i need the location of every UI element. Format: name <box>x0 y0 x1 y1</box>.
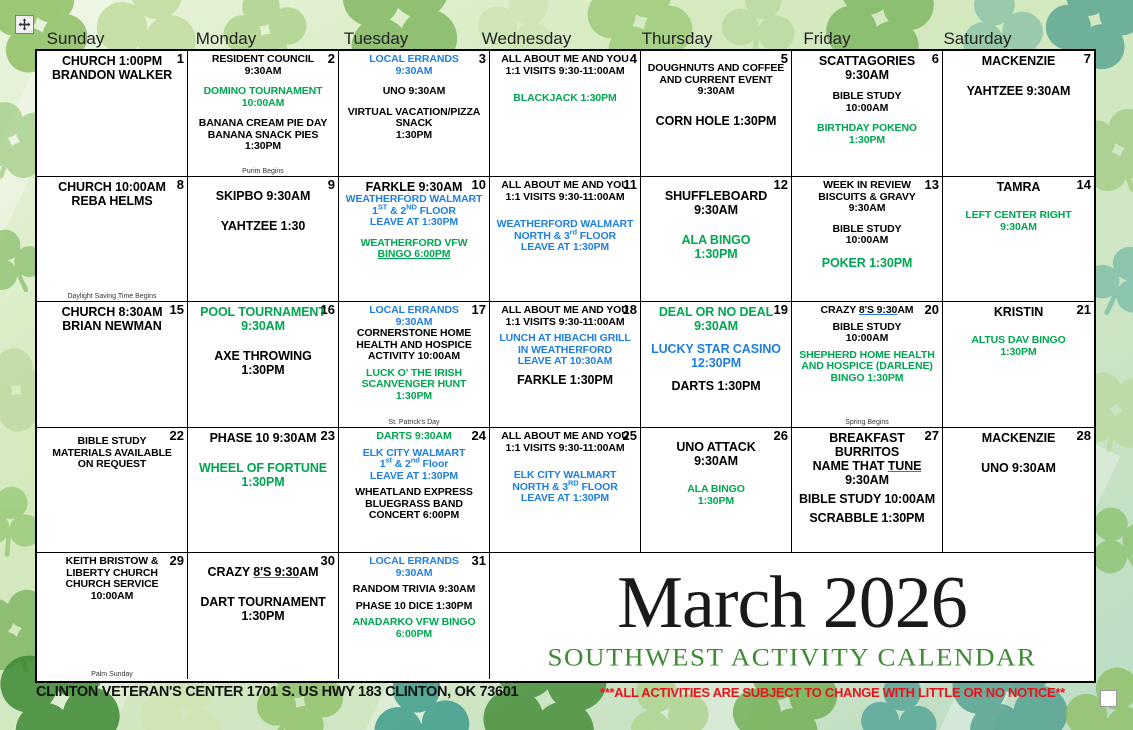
event-text: CORN HOLE 1:30PM <box>643 114 789 128</box>
event-spacer <box>190 333 336 349</box>
day-events: SHUFFLEBOARD9:30AMALA BINGO1:30PM <box>643 180 789 261</box>
day-number: 1 <box>177 52 184 65</box>
event-text: DART TOURNAMENT <box>190 595 336 609</box>
event-text: YAHTZEE 9:30AM <box>945 84 1092 98</box>
event-text: 9:30AM <box>643 319 789 333</box>
event-text: 1:30PM <box>945 347 1092 359</box>
event-spacer <box>643 98 789 114</box>
event-text: LOCAL ERRANDS <box>341 305 487 317</box>
event-spacer <box>492 454 638 470</box>
day-number: 11 <box>623 178 637 191</box>
event-text: 1:30PM <box>190 609 336 623</box>
event-text: 1:1 VISITS 9:30-11:00AM <box>492 192 638 204</box>
event-text: BURRITOS <box>794 445 940 459</box>
event-text: SCATTAGORIES <box>794 54 940 68</box>
event-spacer <box>945 194 1092 210</box>
event-text: 1:1 VISITS 9:30-11:00AM <box>492 443 638 455</box>
event-spacer <box>643 431 789 440</box>
facility-address: CLINTON VETERAN'S CENTER 1701 S. US HWY … <box>36 684 518 700</box>
event-text: 9:30AM <box>190 66 336 78</box>
event-text: RANDOM TRIVIA 9:30AM <box>341 584 487 596</box>
event-text: ALL ABOUT ME AND YOU <box>492 431 638 443</box>
calendar-day-cell[interactable]: 20CRAZY 8'S 9:30AMBIBLE STUDY10:00AMSHEP… <box>792 302 943 428</box>
event-text: CONCERT 6:00PM <box>341 510 487 522</box>
calendar-day-cell[interactable]: 11ALL ABOUT ME AND YOU1:1 VISITS 9:30-11… <box>490 177 641 302</box>
event-text: ALL ABOUT ME AND YOU <box>492 54 638 66</box>
holiday-note: Spring Begins <box>792 419 942 426</box>
weekday-wednesday: Wednesday <box>451 27 602 50</box>
day-events: CHURCH 8:30AMBRIAN NEWMAN <box>39 305 185 333</box>
event-text: 9:30AM <box>794 473 940 487</box>
day-number: 19 <box>774 303 788 316</box>
event-text: 1:30PM <box>190 141 336 153</box>
day-events: MACKENZIEYAHTZEE 9:30AM <box>945 54 1092 98</box>
calendar-day-cell[interactable]: 24DARTS 9:30AMELK CITY WALMART1st & 2nd … <box>339 428 490 553</box>
event-spacer <box>492 203 638 219</box>
event-spacer <box>190 203 336 219</box>
event-text: WHEATLAND EXPRESS <box>341 487 487 499</box>
calendar-day-cell[interactable]: 5DOUGHNUTS AND COFFEEAND CURRENT EVENT9:… <box>641 51 792 177</box>
calendar-day-cell[interactable]: 3LOCAL ERRANDS9:30AMUNO 9:30AMVIRTUAL VA… <box>339 51 490 177</box>
holiday-note: Purim Begins <box>188 168 338 175</box>
calendar-day-cell[interactable]: 10FARKLE 9:30AMWEATHERFORD WALMART1ST & … <box>339 177 490 302</box>
day-events: BIBLE STUDYMATERIALS AVAILABLEON REQUEST <box>39 431 185 471</box>
event-text: 9:30AM <box>341 66 487 78</box>
event-spacer <box>945 68 1092 84</box>
day-number: 18 <box>623 303 637 316</box>
day-number: 2 <box>328 52 335 65</box>
day-number: 15 <box>170 303 184 316</box>
calendar-day-cell[interactable]: 21KRISTINALTUS DAV BINGO1:30PM <box>943 302 1094 428</box>
event-text: ON REQUEST <box>39 459 185 471</box>
event-text: MACKENZIE <box>945 54 1092 68</box>
calendar-day-cell[interactable]: 28MACKENZIEUNO 9:30AM <box>943 428 1094 553</box>
day-events: KEITH BRISTOW &LIBERTY CHURCHCHURCH SERV… <box>39 556 185 602</box>
day-number: 7 <box>1084 52 1091 65</box>
event-text: 1:30PM <box>341 391 487 403</box>
event-spacer <box>643 180 789 189</box>
event-text: 1st & 2nd Floor <box>341 459 487 471</box>
event-text: DEAL OR NO DEAL <box>643 305 789 319</box>
calendar-day-cell[interactable]: 23PHASE 10 9:30AMWHEEL OF FORTUNE1:30PM <box>188 428 339 553</box>
day-events: MACKENZIEUNO 9:30AM <box>945 431 1092 475</box>
event-text: RESIDENT COUNCIL <box>190 54 336 66</box>
event-text: BIBLE STUDY <box>794 91 940 103</box>
event-text: 9:30AM <box>945 222 1092 234</box>
day-number: 26 <box>774 429 788 442</box>
event-text: BRIAN NEWMAN <box>39 319 185 333</box>
event-text: KEITH BRISTOW & <box>39 556 185 568</box>
page-title: March 2026 <box>617 566 967 640</box>
day-events: CHURCH 1:00PMBRANDON WALKER <box>39 54 185 82</box>
event-text: BIBLE STUDY <box>39 436 185 448</box>
day-number: 20 <box>925 303 939 316</box>
event-text: UNO 9:30AM <box>341 86 487 98</box>
event-text: 1:30PM <box>643 496 789 508</box>
event-text: 10:00AM <box>190 98 336 110</box>
day-events: LOCAL ERRANDS9:30AMCORNERSTONE HOMEHEALT… <box>341 305 487 402</box>
day-events: TAMRALEFT CENTER RIGHT9:30AM <box>945 180 1092 233</box>
day-events: CRAZY 8'S 9:30AMBIBLE STUDY10:00AMSHEPHE… <box>794 305 940 384</box>
event-text: TAMRA <box>945 180 1092 194</box>
day-number: 16 <box>321 303 335 316</box>
event-text: 10:00AM <box>39 591 185 603</box>
event-text: ALA BINGO <box>643 233 789 247</box>
event-spacer <box>190 579 336 595</box>
event-text: 9:30AM <box>643 454 789 468</box>
day-number: 8 <box>177 178 184 191</box>
holiday-note: Palm Sunday <box>37 671 187 678</box>
day-number: 29 <box>170 554 184 567</box>
event-text: 10:00AM <box>794 333 940 345</box>
day-events: ALL ABOUT ME AND YOU1:1 VISITS 9:30-11:0… <box>492 305 638 387</box>
day-number: 30 <box>321 554 335 567</box>
event-text: 9:30AM <box>794 68 940 82</box>
event-text: 1:30PM <box>190 475 336 489</box>
event-text: 9:30AM <box>643 203 789 217</box>
event-text: FARKLE 1:30PM <box>492 373 638 387</box>
day-number: 22 <box>170 429 184 442</box>
event-text: POOL TOURNAMENT <box>190 305 336 319</box>
event-text: BRANDON WALKER <box>39 68 185 82</box>
event-text: POKER 1:30PM <box>794 256 940 270</box>
event-text: LEFT CENTER RIGHT <box>945 210 1092 222</box>
event-text: PHASE 10 9:30AM <box>190 431 336 445</box>
day-events: LOCAL ERRANDS9:30AMRANDOM TRIVIA 9:30AMP… <box>341 556 487 640</box>
day-number: 27 <box>925 429 939 442</box>
move-cross-icon[interactable] <box>15 15 34 34</box>
event-text: LEAVE AT 1:30PM <box>492 242 638 254</box>
event-text: PHASE 10 DICE 1:30PM <box>341 601 487 613</box>
event-spacer <box>945 445 1092 461</box>
day-number: 5 <box>781 52 788 65</box>
day-events: PHASE 10 9:30AMWHEEL OF FORTUNE1:30PM <box>190 431 336 489</box>
calendar-day-cell[interactable]: 19DEAL OR NO DEAL9:30AMLUCKY STAR CASINO… <box>641 302 792 428</box>
event-text: BIBLE STUDY 10:00AM <box>794 492 940 506</box>
event-text: 9:30AM <box>341 568 487 580</box>
event-text: 9:30AM <box>643 86 789 98</box>
event-spacer <box>945 319 1092 335</box>
calendar-day-cell[interactable]: 25ALL ABOUT ME AND YOU1:1 VISITS 9:30-11… <box>490 428 641 553</box>
calendar-day-cell[interactable]: 16POOL TOURNAMENT9:30AMAXE THROWING1:30P… <box>188 302 339 428</box>
event-spacer <box>643 370 789 379</box>
event-text: BIRTHDAY POKENO <box>794 123 940 135</box>
calendar-day-cell[interactable]: 17LOCAL ERRANDS9:30AMCORNERSTONE HOMEHEA… <box>339 302 490 428</box>
event-text: SKIPBO 9:30AM <box>190 189 336 203</box>
event-text: LEAVE AT 1:30PM <box>492 493 638 505</box>
day-events: SKIPBO 9:30AMYAHTZEE 1:30 <box>190 180 336 233</box>
event-text: SNACK <box>341 118 487 130</box>
day-number: 4 <box>630 52 637 65</box>
weekday-thursday: Thursday <box>602 27 752 50</box>
event-text: CHURCH 10:00AM <box>39 180 185 194</box>
day-events: LOCAL ERRANDS9:30AMUNO 9:30AMVIRTUAL VAC… <box>341 54 487 141</box>
day-number: 12 <box>774 178 788 191</box>
event-spacer <box>794 247 940 256</box>
event-text: LOCAL ERRANDS <box>341 556 487 568</box>
event-text: 1:30PM <box>643 247 789 261</box>
day-number: 23 <box>321 429 335 442</box>
event-text: 10:00AM <box>794 235 940 247</box>
event-text: 9:30AM <box>190 319 336 333</box>
event-text: CRAZY 8'S 9:30AM <box>190 565 336 579</box>
calendar-day-cell[interactable]: 29KEITH BRISTOW &LIBERTY CHURCHCHURCH SE… <box>37 553 188 679</box>
event-text: KRISTIN <box>945 305 1092 319</box>
event-text: 12:30PM <box>643 356 789 370</box>
calendar-day-cell[interactable]: 7MACKENZIEYAHTZEE 9:30AM <box>943 51 1094 177</box>
day-number: 14 <box>1077 178 1091 191</box>
calendar-day-cell[interactable]: 6SCATTAGORIES9:30AMBIBLE STUDY10:00AMBIR… <box>792 51 943 177</box>
holiday-note: St. Patrick's Day <box>339 419 489 426</box>
day-events: CRAZY 8'S 9:30AMDART TOURNAMENT1:30PM <box>190 556 336 623</box>
weekday-friday: Friday <box>752 27 902 50</box>
calendar-day-cell[interactable]: 15CHURCH 8:30AMBRIAN NEWMAN <box>37 302 188 428</box>
day-events: KRISTINALTUS DAV BINGO1:30PM <box>945 305 1092 358</box>
event-spacer <box>190 556 336 565</box>
event-text: ALL ABOUT ME AND YOU <box>492 180 638 192</box>
event-spacer <box>492 77 638 93</box>
event-text: LEAVE AT 1:30PM <box>341 217 487 229</box>
day-events: SCATTAGORIES9:30AMBIBLE STUDY10:00AMBIRT… <box>794 54 940 146</box>
event-text: BREAKFAST <box>794 431 940 445</box>
event-text: ALA BINGO <box>643 484 789 496</box>
calendar-day-cell[interactable]: 1CHURCH 1:00PMBRANDON WALKER <box>37 51 188 177</box>
day-number: 17 <box>472 303 486 316</box>
weekday-saturday: Saturday <box>902 27 1053 50</box>
event-spacer <box>190 180 336 189</box>
event-text: UNO 9:30AM <box>945 461 1092 475</box>
day-number: 13 <box>925 178 939 191</box>
change-notice: ***ALL ACTIVITIES ARE SUBJECT TO CHANGE … <box>600 685 1065 700</box>
event-text: 9:30AM <box>794 203 940 215</box>
event-text: NAME THAT TUNE <box>794 459 940 473</box>
day-number: 9 <box>328 178 335 191</box>
day-number: 31 <box>472 554 486 567</box>
calendar-day-cell[interactable]: 22BIBLE STUDYMATERIALS AVAILABLEON REQUE… <box>37 428 188 553</box>
event-text: AXE THROWING <box>190 349 336 363</box>
calendar-day-cell[interactable]: 8CHURCH 10:00AMREBA HELMSDaylight Saving… <box>37 177 188 302</box>
event-text: BANANA CREAM PIE DAY <box>190 118 336 130</box>
event-text: CHURCH SERVICE <box>39 579 185 591</box>
event-text: WEATHERFORD WALMART <box>492 219 638 231</box>
day-events: UNO ATTACK9:30AMALA BINGO1:30PM <box>643 431 789 507</box>
calendar-day-cell[interactable]: 9SKIPBO 9:30AMYAHTZEE 1:30 <box>188 177 339 302</box>
event-text: SHUFFLEBOARD <box>643 189 789 203</box>
event-spacer <box>190 445 336 461</box>
event-text: LUCKY STAR CASINO <box>643 342 789 356</box>
event-text: ALTUS DAV BINGO <box>945 335 1092 347</box>
event-text: LEAVE AT 10:30AM <box>492 356 638 368</box>
event-text: ANADARKO VFW BINGO <box>341 617 487 629</box>
event-text: DOUGHNUTS AND COFFEE <box>643 63 789 75</box>
event-text: WHEEL OF FORTUNE <box>190 461 336 475</box>
day-events: WEEK IN REVIEWBISCUITS & GRAVY9:30AMBIBL… <box>794 180 940 270</box>
event-text: BLACKJACK 1:30PM <box>492 93 638 105</box>
day-events: DARTS 9:30AMELK CITY WALMART1st & 2nd Fl… <box>341 431 487 522</box>
resize-handle-icon[interactable] <box>1100 690 1117 707</box>
event-text: SCRABBLE 1:30PM <box>794 511 940 525</box>
event-text: LUNCH AT HIBACHI GRILL <box>492 333 638 345</box>
day-events: CHURCH 10:00AMREBA HELMS <box>39 180 185 208</box>
event-text: 1:30PM <box>190 363 336 377</box>
day-events: ALL ABOUT ME AND YOU1:1 VISITS 9:30-11:0… <box>492 180 638 254</box>
event-text: 1:1 VISITS 9:30-11:00AM <box>492 66 638 78</box>
event-text: CORNERSTONE HOME <box>341 328 487 340</box>
calendar-day-cell[interactable]: 2RESIDENT COUNCIL9:30AMDOMINO TOURNAMENT… <box>188 51 339 177</box>
calendar-day-cell[interactable]: 27BREAKFASTBURRITOSNAME THAT TUNE9:30AMB… <box>792 428 943 553</box>
weekday-monday: Monday <box>151 27 301 50</box>
event-text: CRAZY 8'S 9:30AM <box>794 305 940 317</box>
event-text: ACTIVITY 10:00AM <box>341 351 487 363</box>
calendar-day-cell[interactable]: 12SHUFFLEBOARD9:30AMALA BINGO1:30PM <box>641 177 792 302</box>
calendar-day-cell[interactable]: 18ALL ABOUT ME AND YOU1:1 VISITS 9:30-11… <box>490 302 641 428</box>
day-events: POOL TOURNAMENT9:30AMAXE THROWING1:30PM <box>190 305 336 377</box>
event-text: BINGO 6:00PM <box>341 249 487 261</box>
day-number: 21 <box>1077 303 1091 316</box>
page-subtitle: SOUTHWEST ACTIVITY CALENDAR <box>548 643 1037 672</box>
event-text: REBA HELMS <box>39 194 185 208</box>
day-number: 28 <box>1077 429 1091 442</box>
event-text: LOCAL ERRANDS <box>341 54 487 66</box>
event-text: UNO ATTACK <box>643 440 789 454</box>
day-events: DOUGHNUTS AND COFFEEAND CURRENT EVENT9:3… <box>643 54 789 128</box>
calendar-day-cell[interactable]: 31LOCAL ERRANDS9:30AMRANDOM TRIVIA 9:30A… <box>339 553 490 679</box>
event-text: LEAVE AT 1:30PM <box>341 471 487 483</box>
day-events: RESIDENT COUNCIL9:30AMDOMINO TOURNAMENT1… <box>190 54 336 153</box>
holiday-note: Daylight Saving Time Begins <box>37 293 187 300</box>
day-number: 3 <box>479 52 486 65</box>
event-text: DARTS 9:30AM <box>341 431 487 443</box>
day-number: 10 <box>472 178 486 191</box>
event-spacer <box>643 468 789 484</box>
day-number: 24 <box>472 429 486 442</box>
calendar-day-cell[interactable]: 4ALL ABOUT ME AND YOU1:1 VISITS 9:30-11:… <box>490 51 641 177</box>
day-events: ALL ABOUT ME AND YOU1:1 VISITS 9:30-11:0… <box>492 431 638 505</box>
calendar-day-cell[interactable]: 13WEEK IN REVIEWBISCUITS & GRAVY9:30AMBI… <box>792 177 943 302</box>
event-text: DARTS 1:30PM <box>643 379 789 393</box>
event-text: CHURCH 8:30AM <box>39 305 185 319</box>
calendar-day-cell[interactable]: 26UNO ATTACK9:30AMALA BINGO1:30PM <box>641 428 792 553</box>
day-events: DEAL OR NO DEAL9:30AMLUCKY STAR CASINO12… <box>643 305 789 393</box>
event-text: 10:00AM <box>794 103 940 115</box>
day-events: BREAKFASTBURRITOSNAME THAT TUNE9:30AMBIB… <box>794 431 940 525</box>
calendar-day-cell[interactable]: 14TAMRALEFT CENTER RIGHT9:30AM <box>943 177 1094 302</box>
event-text: 6:00PM <box>341 629 487 641</box>
day-number: 25 <box>623 429 637 442</box>
event-text: MACKENZIE <box>945 431 1092 445</box>
event-text: SCANVENGER HUNT <box>341 379 487 391</box>
event-text: YAHTZEE 1:30 <box>190 219 336 233</box>
event-text: BINGO 1:30PM <box>794 373 940 385</box>
calendar-grid: 1CHURCH 1:00PMBRANDON WALKER2RESIDENT CO… <box>35 49 1096 683</box>
event-text: WEEK IN REVIEW <box>794 180 940 192</box>
event-text: ELK CITY WALMART <box>492 470 638 482</box>
event-text: AND HOSPICE (DARLENE) <box>794 361 940 373</box>
day-events: FARKLE 9:30AMWEATHERFORD WALMART1ST & 2N… <box>341 180 487 261</box>
event-text: FARKLE 9:30AM <box>341 180 487 194</box>
event-text: ALL ABOUT ME AND YOU <box>492 305 638 317</box>
event-text: CHURCH 1:00PM <box>39 54 185 68</box>
calendar-title-block: March 2026SOUTHWEST ACTIVITY CALENDAR <box>490 553 1094 679</box>
event-text: 1:30PM <box>341 130 487 142</box>
calendar-day-cell[interactable]: 30CRAZY 8'S 9:30AMDART TOURNAMENT1:30PM <box>188 553 339 679</box>
weekday-header-row: Sunday Monday Tuesday Wednesday Thursday… <box>0 27 1133 50</box>
weekday-tuesday: Tuesday <box>301 27 451 50</box>
day-events: ALL ABOUT ME AND YOU1:1 VISITS 9:30-11:0… <box>492 54 638 105</box>
day-number: 6 <box>932 52 939 65</box>
event-text: 1:30PM <box>794 135 940 147</box>
event-text: 1:1 VISITS 9:30-11:00AM <box>492 317 638 329</box>
event-spacer <box>643 333 789 342</box>
event-spacer <box>643 217 789 233</box>
event-text: DOMINO TOURNAMENT <box>190 86 336 98</box>
